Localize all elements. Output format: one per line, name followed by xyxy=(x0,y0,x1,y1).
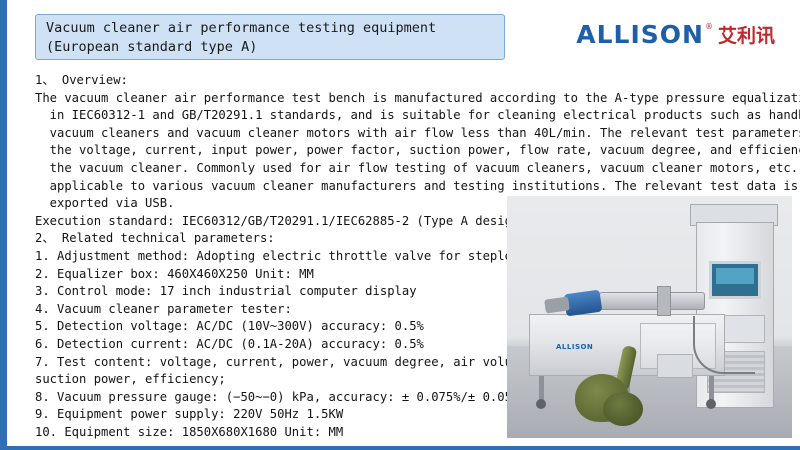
page-title-line-2: (European standard type A) xyxy=(46,38,496,57)
industrial-computer-display xyxy=(709,261,761,299)
accessory-box xyxy=(657,354,693,378)
page-title-line-1: Vacuum cleaner air performance testing e… xyxy=(46,19,496,38)
body-line: the vacuum cleaner. Commonly used for ai… xyxy=(35,160,765,178)
logo-chinese-name: 艾利讯 xyxy=(718,21,775,48)
title-box: Vacuum cleaner air performance testing e… xyxy=(35,14,505,60)
air-duct xyxy=(599,292,705,310)
bench-brand-label: ALLISON xyxy=(556,343,593,351)
logo-wordmark: ALLISON xyxy=(576,20,704,49)
coiled-hose-secondary xyxy=(603,392,643,426)
bench-caster xyxy=(706,399,716,409)
duct-flange xyxy=(657,286,671,316)
body-line: The vacuum cleaner air performance test … xyxy=(35,90,765,108)
document-page: Vacuum cleaner air performance testing e… xyxy=(0,0,800,450)
body-line: in IEC60312-1 and GB/T20291.1 standards,… xyxy=(35,107,765,125)
bench-caster xyxy=(536,399,546,409)
company-logo: ALLISON®艾利讯 xyxy=(576,20,775,49)
page-header: Vacuum cleaner air performance testing e… xyxy=(35,14,775,62)
body-line: vacuum cleaners and vacuum cleaner motor… xyxy=(35,125,765,143)
body-line: applicable to various vacuum cleaner man… xyxy=(35,178,765,196)
body-line: 1、 Overview: xyxy=(35,72,765,90)
power-cable xyxy=(693,316,755,374)
registered-trademark-icon: ® xyxy=(705,22,713,31)
equipment-photo: ALLISON xyxy=(507,196,792,438)
body-line: the voltage, current, input power, power… xyxy=(35,142,765,160)
